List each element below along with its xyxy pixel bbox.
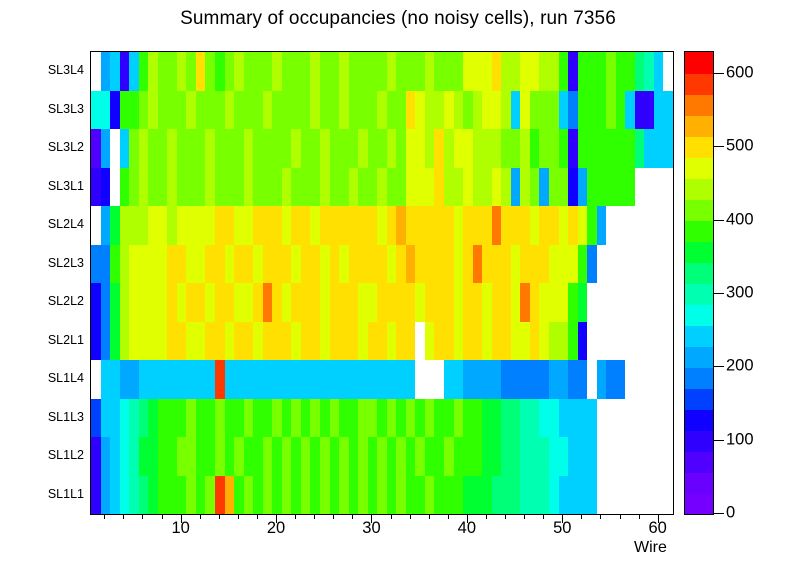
colorbar — [684, 51, 714, 515]
colorbar-band — [685, 388, 713, 410]
colorbar-band — [685, 472, 713, 494]
y-axis-label: SL1L1 — [48, 487, 84, 501]
colorbar-tick — [713, 73, 724, 74]
colorbar-label: 600 — [726, 64, 754, 83]
y-axis-label: SL2L3 — [48, 256, 84, 270]
colorbar-band — [685, 430, 713, 452]
colorbar-label: 100 — [726, 430, 754, 449]
y-axis-labels: SL3L4SL3L3SL3L2SL3L1SL2L4SL2L3SL2L2SL2L1… — [0, 51, 84, 513]
colorbar-band — [685, 493, 713, 515]
y-axis-label: SL1L2 — [48, 448, 84, 462]
heatmap-cell — [663, 91, 673, 130]
x-axis-label: 30 — [362, 519, 380, 538]
y-axis-label: SL2L2 — [48, 294, 84, 308]
colorbar-tick — [713, 220, 724, 221]
colorbar-band — [685, 283, 713, 305]
root-canvas: Summary of occupancies (no noisy cells),… — [0, 0, 796, 572]
colorbar-band — [685, 178, 713, 200]
page-title: Summary of occupancies (no noisy cells),… — [0, 8, 796, 30]
x-axis-labels: 102030405060 — [0, 519, 796, 541]
heatmap-grid[interactable] — [91, 52, 673, 514]
y-axis-label: SL3L3 — [48, 102, 84, 116]
heatmap-cell — [663, 360, 673, 399]
colorbar-band — [685, 157, 713, 179]
y-axis-label: SL2L4 — [48, 217, 84, 231]
heatmap-cell — [663, 322, 673, 361]
colorbar-band — [685, 325, 713, 347]
colorbar-label: 200 — [726, 357, 754, 376]
heatmap-cell — [663, 206, 673, 245]
colorbar-tick — [713, 513, 724, 514]
y-axis-label: SL2L1 — [48, 333, 84, 347]
heatmap-cell — [663, 476, 673, 515]
colorbar-band — [685, 367, 713, 389]
colorbar-tick — [713, 366, 724, 367]
colorbar-tick — [713, 440, 724, 441]
colorbar-label: 300 — [726, 284, 754, 303]
colorbar-band — [685, 52, 713, 74]
colorbar-band — [685, 220, 713, 242]
colorbar-band — [685, 262, 713, 284]
x-axis-title: Wire — [634, 539, 667, 557]
colorbar-band — [685, 115, 713, 137]
x-axis-label: 50 — [553, 519, 571, 538]
colorbar-tick — [713, 293, 724, 294]
heatmap-cell — [663, 245, 673, 284]
y-axis-label: SL1L3 — [48, 410, 84, 424]
colorbar-band — [685, 94, 713, 116]
x-axis-label: 40 — [458, 519, 476, 538]
x-axis-label: 60 — [649, 519, 667, 538]
heatmap-cell — [663, 283, 673, 322]
colorbar-labels: 0100200300400500600 — [726, 51, 792, 513]
x-axis-label: 20 — [267, 519, 285, 538]
heatmap-cell — [663, 52, 673, 91]
colorbar-label: 500 — [726, 137, 754, 156]
y-axis-label: SL3L2 — [48, 140, 84, 154]
colorbar-band — [685, 451, 713, 473]
y-axis-label: SL3L4 — [48, 63, 84, 77]
heatmap-cell — [663, 129, 673, 168]
heatmap-cell — [663, 399, 673, 438]
x-axis-label: 10 — [171, 519, 189, 538]
colorbar-band — [685, 199, 713, 221]
colorbar-band — [685, 304, 713, 326]
colorbar-band — [685, 346, 713, 368]
y-axis-label: SL3L1 — [48, 179, 84, 193]
colorbar-band — [685, 241, 713, 263]
heatmap-cell — [663, 437, 673, 476]
colorbar-band — [685, 409, 713, 431]
colorbar-label: 0 — [726, 504, 735, 523]
colorbar-band — [685, 73, 713, 95]
colorbar-ticks — [713, 51, 725, 513]
colorbar-band — [685, 136, 713, 158]
plot-frame — [90, 51, 674, 515]
colorbar-label: 400 — [726, 210, 754, 229]
heatmap-cell — [663, 168, 673, 207]
colorbar-tick — [713, 146, 724, 147]
y-axis-label: SL1L4 — [48, 371, 84, 385]
